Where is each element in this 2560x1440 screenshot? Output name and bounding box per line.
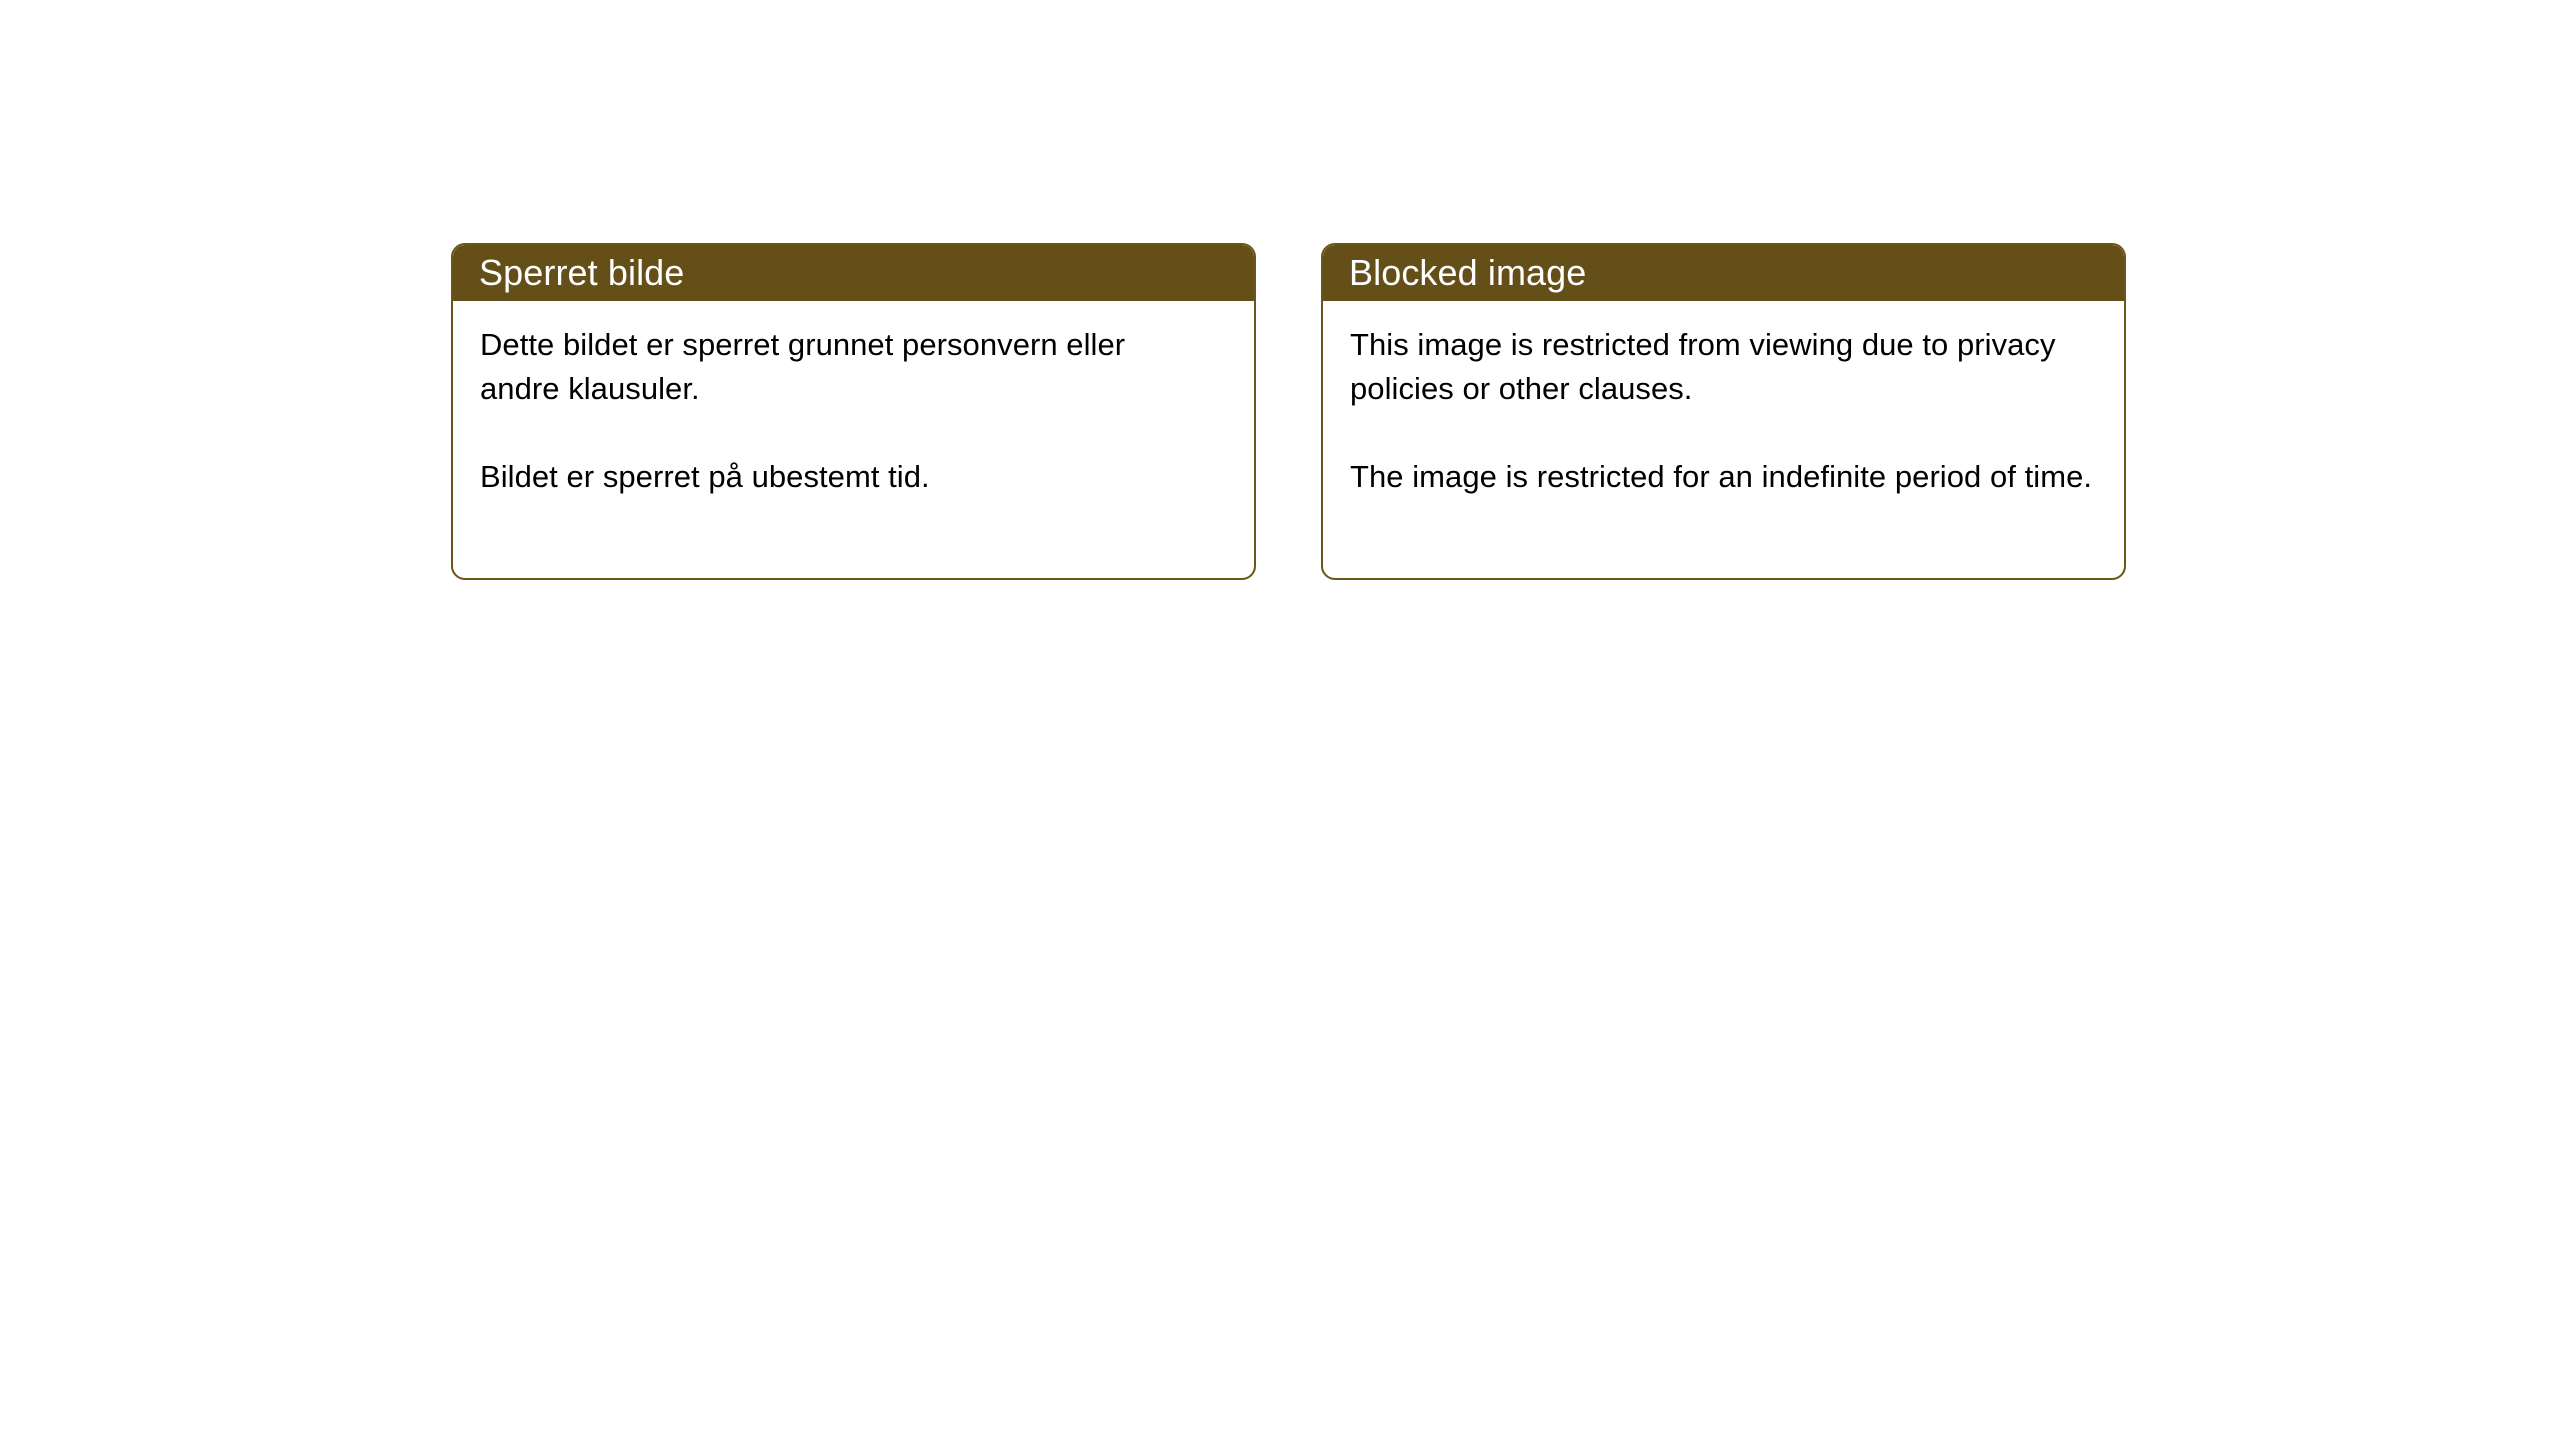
blocked-image-notice-card-english: Blocked image This image is restricted f…: [1321, 243, 2126, 580]
card-title-norwegian: Sperret bilde: [479, 253, 684, 293]
blocked-image-notice-card-norwegian: Sperret bilde Dette bildet er sperret gr…: [451, 243, 1256, 580]
card-header-english: Blocked image: [1323, 245, 2124, 301]
card-body-norwegian: Dette bildet er sperret grunnet personve…: [453, 301, 1254, 578]
notice-paragraph-primary-english: This image is restricted from viewing du…: [1350, 323, 2098, 411]
card-title-english: Blocked image: [1349, 253, 1586, 293]
card-body-english: This image is restricted from viewing du…: [1323, 301, 2124, 578]
notice-paragraph-secondary-english: The image is restricted for an indefinit…: [1350, 455, 2098, 499]
card-header-norwegian: Sperret bilde: [453, 245, 1254, 301]
page-root: Sperret bilde Dette bildet er sperret gr…: [0, 0, 2560, 1440]
notice-paragraph-primary-norwegian: Dette bildet er sperret grunnet personve…: [480, 323, 1210, 411]
notice-paragraph-secondary-norwegian: Bildet er sperret på ubestemt tid.: [480, 455, 1210, 499]
